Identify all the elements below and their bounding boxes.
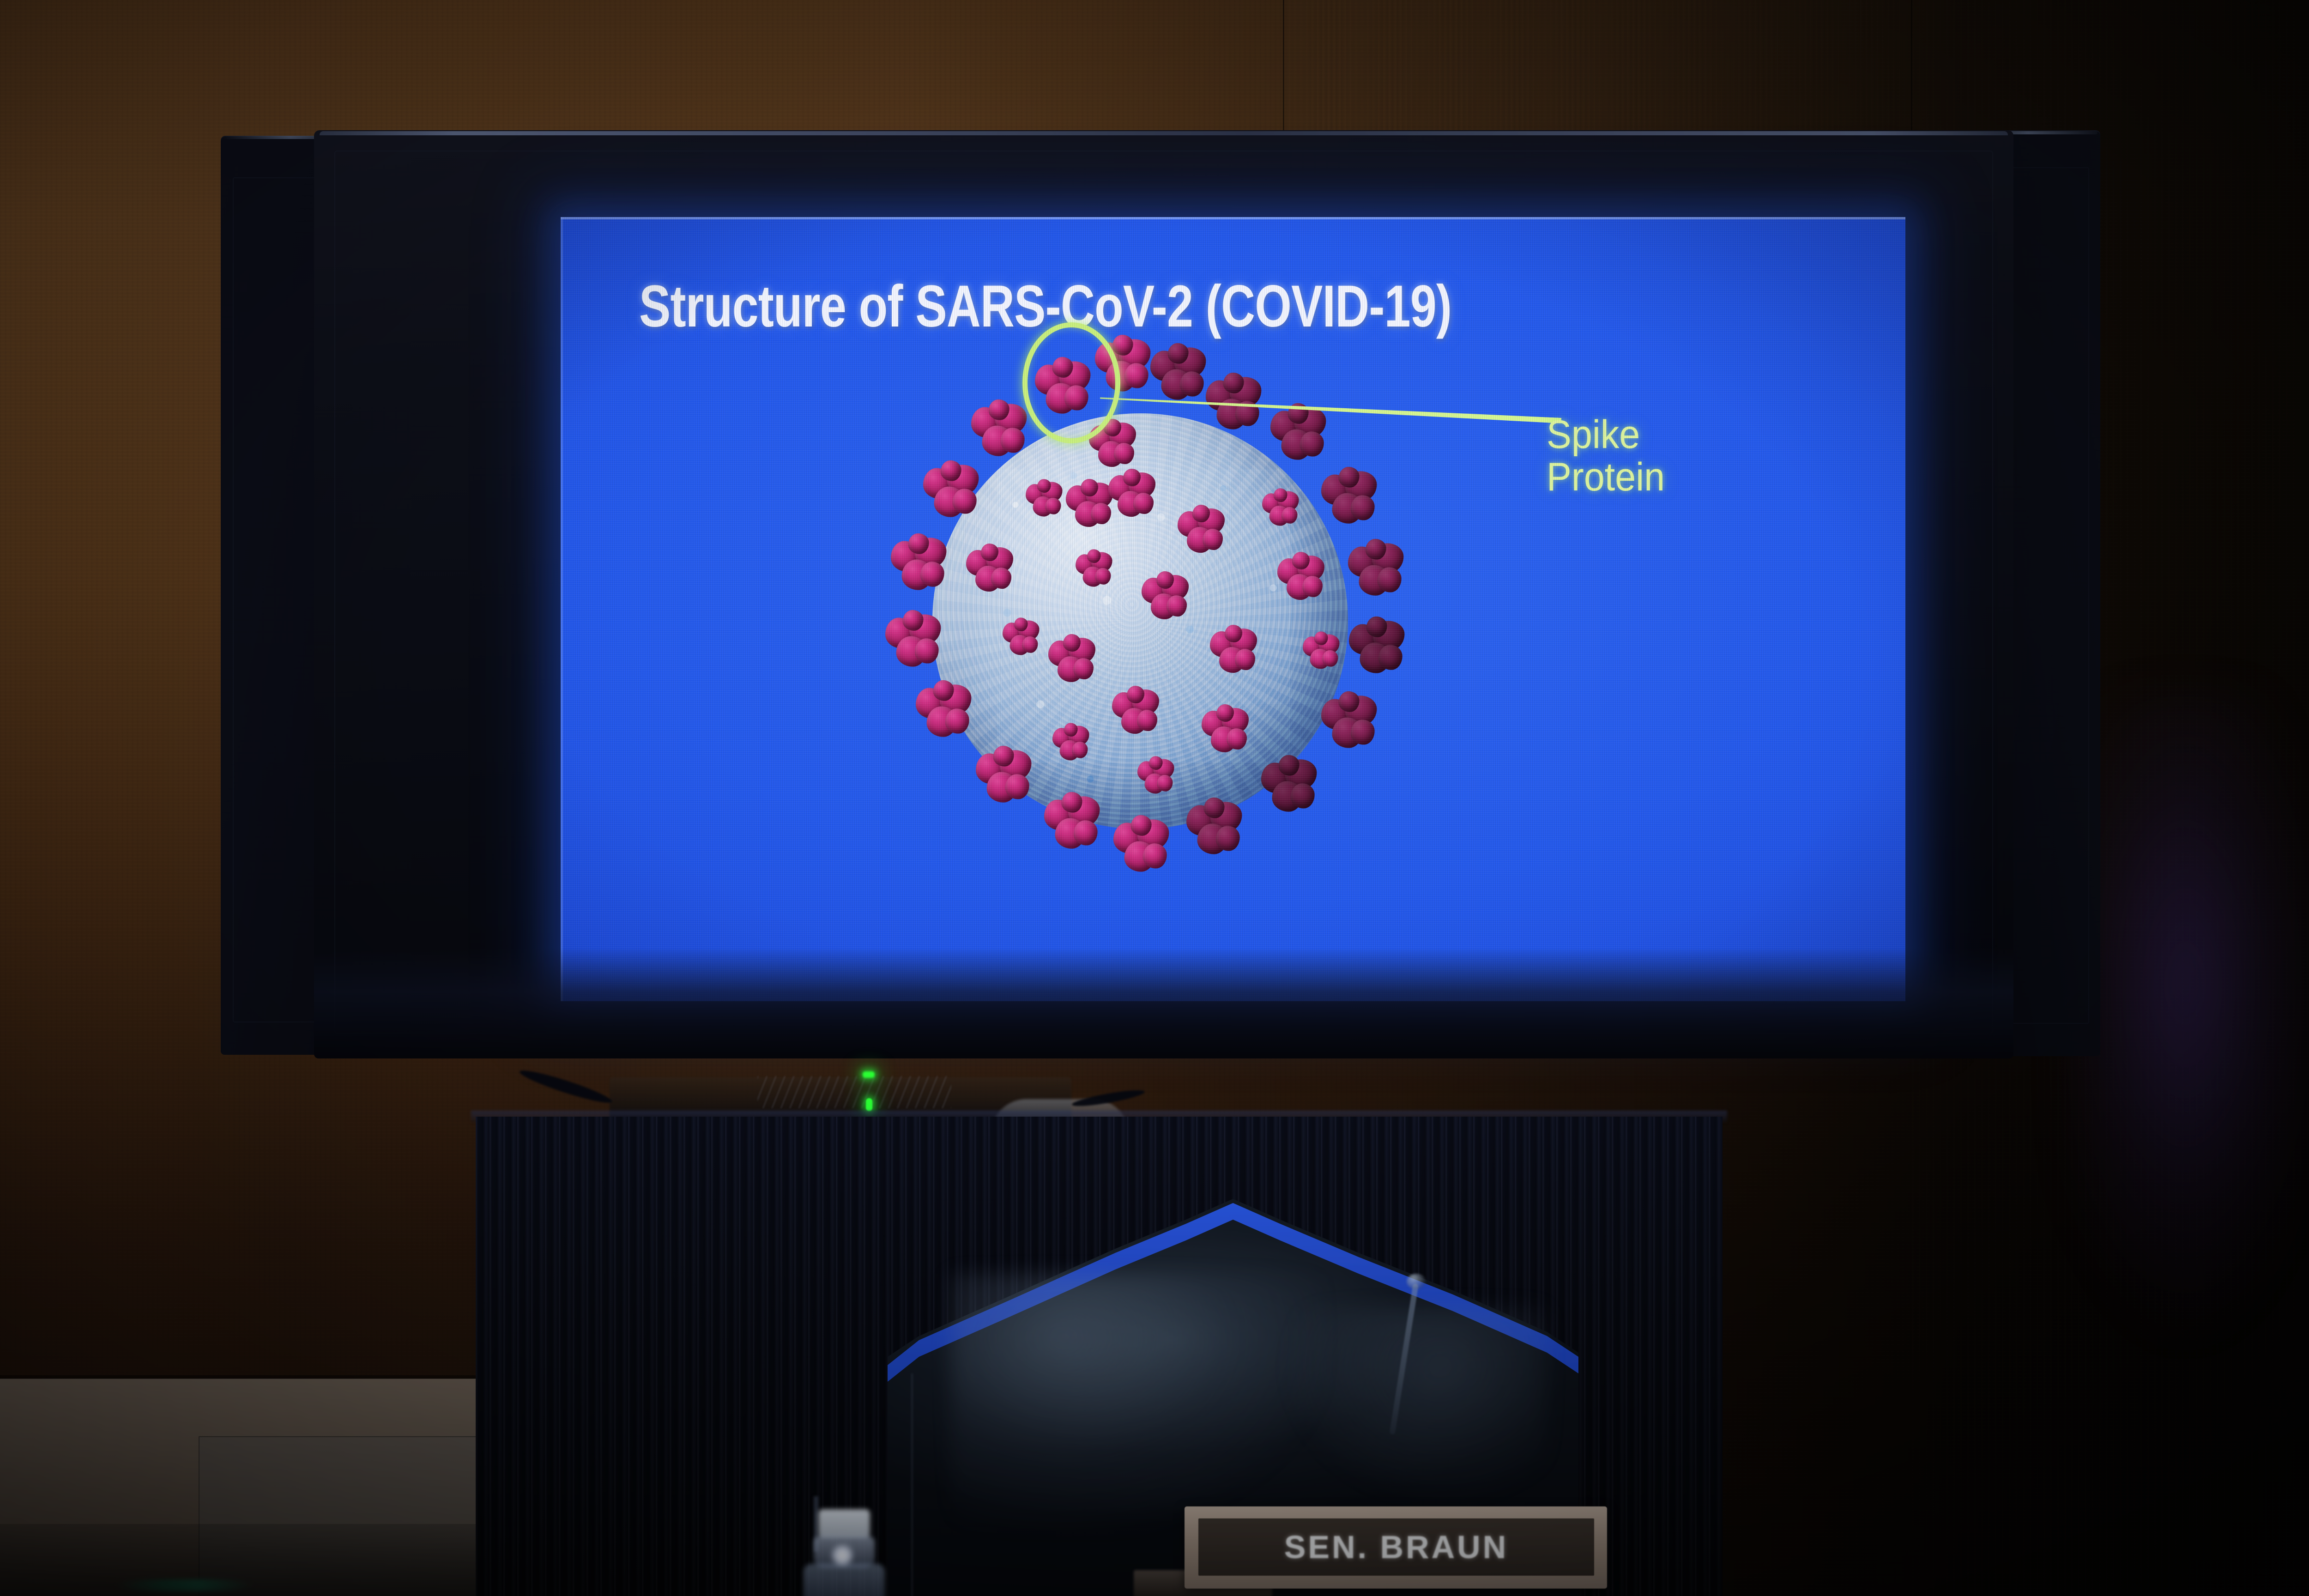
equipment-ventilation-ridges — [757, 1076, 951, 1108]
nameplate-text: SEN. BRAUN — [1284, 1529, 1509, 1566]
spike-protein — [1046, 634, 1097, 686]
spike-protein — [888, 533, 949, 594]
chair-leather-sheen — [950, 1274, 1327, 1531]
baseboard-shadow — [0, 1524, 508, 1596]
spike-protein — [1183, 798, 1244, 858]
screenshot-root: Structure of SARS-CoV-2 (COVID-19) — [0, 0, 2309, 1596]
spike-protein-label-line2: Protein — [1547, 456, 1665, 498]
wainscot-top-edge — [0, 1375, 480, 1379]
spike-protein-label: Spike Protein — [1547, 413, 1665, 498]
spike-protein-label-line1: Spike — [1547, 413, 1665, 456]
spike-protein — [1073, 549, 1113, 589]
display-screen[interactable]: Structure of SARS-CoV-2 (COVID-19) — [561, 217, 1905, 1001]
water-bottle — [802, 1509, 885, 1596]
spike-protein — [1345, 539, 1406, 600]
microphone-head — [1407, 1274, 1426, 1289]
spike-protein — [913, 680, 973, 741]
spike-protein — [1318, 691, 1379, 752]
spike-protein — [1346, 617, 1407, 677]
spike-protein — [1139, 571, 1191, 623]
sars-cov-2-illustration — [856, 335, 1424, 903]
spike-protein — [1110, 815, 1171, 876]
spike-highlight-circle — [1022, 322, 1120, 443]
bottle-body — [804, 1564, 885, 1596]
spike-protein — [1041, 792, 1102, 853]
bezel-top-highlight — [320, 131, 2008, 135]
senator-nameplate: SEN. BRAUN — [1185, 1506, 1607, 1589]
spike-protein — [882, 610, 943, 671]
bezel-bottom-shading — [314, 948, 2013, 1058]
spike-protein — [920, 460, 981, 521]
spike-protein — [1318, 467, 1379, 528]
chair-seam — [911, 1373, 913, 1596]
spike-protein — [968, 399, 1029, 460]
chair-leather-sheen — [1280, 1307, 1547, 1506]
spike-protein-highlighted — [1106, 469, 1157, 520]
monitor-bezel: Structure of SARS-CoV-2 (COVID-19) — [314, 130, 2013, 1058]
spike-protein — [1275, 552, 1326, 604]
bottle-cap — [818, 1509, 870, 1538]
spike-protein — [1147, 343, 1208, 404]
nameplate-face: SEN. BRAUN — [1198, 1518, 1594, 1576]
spike-protein — [973, 746, 1034, 807]
screen-top-edge-glow — [561, 217, 1905, 219]
violet-light-spill — [2069, 693, 2309, 1339]
equipment-led-indicator — [863, 1071, 875, 1078]
spike-protein — [1000, 617, 1040, 658]
spike-protein — [1260, 488, 1300, 528]
equipment-led-indicator — [866, 1098, 872, 1111]
screen-left-edge-glow — [561, 217, 563, 1001]
spike-protein — [1300, 631, 1341, 671]
spike-protein — [1135, 756, 1175, 796]
spike-protein — [1258, 755, 1319, 816]
bottle-specular-glint — [830, 1543, 854, 1567]
spike-protein — [1023, 479, 1064, 519]
spike-protein — [1175, 505, 1227, 556]
spike-protein — [1050, 723, 1090, 763]
spike-protein — [1267, 403, 1328, 464]
panasonic-monitor: Structure of SARS-CoV-2 (COVID-19) — [221, 130, 2100, 1100]
spike-protein — [1207, 625, 1259, 677]
slide-title: Structure of SARS-CoV-2 (COVID-19) — [639, 272, 1451, 340]
spike-protein — [1109, 686, 1161, 738]
spike-protein — [1199, 704, 1251, 756]
spike-protein — [963, 544, 1015, 595]
